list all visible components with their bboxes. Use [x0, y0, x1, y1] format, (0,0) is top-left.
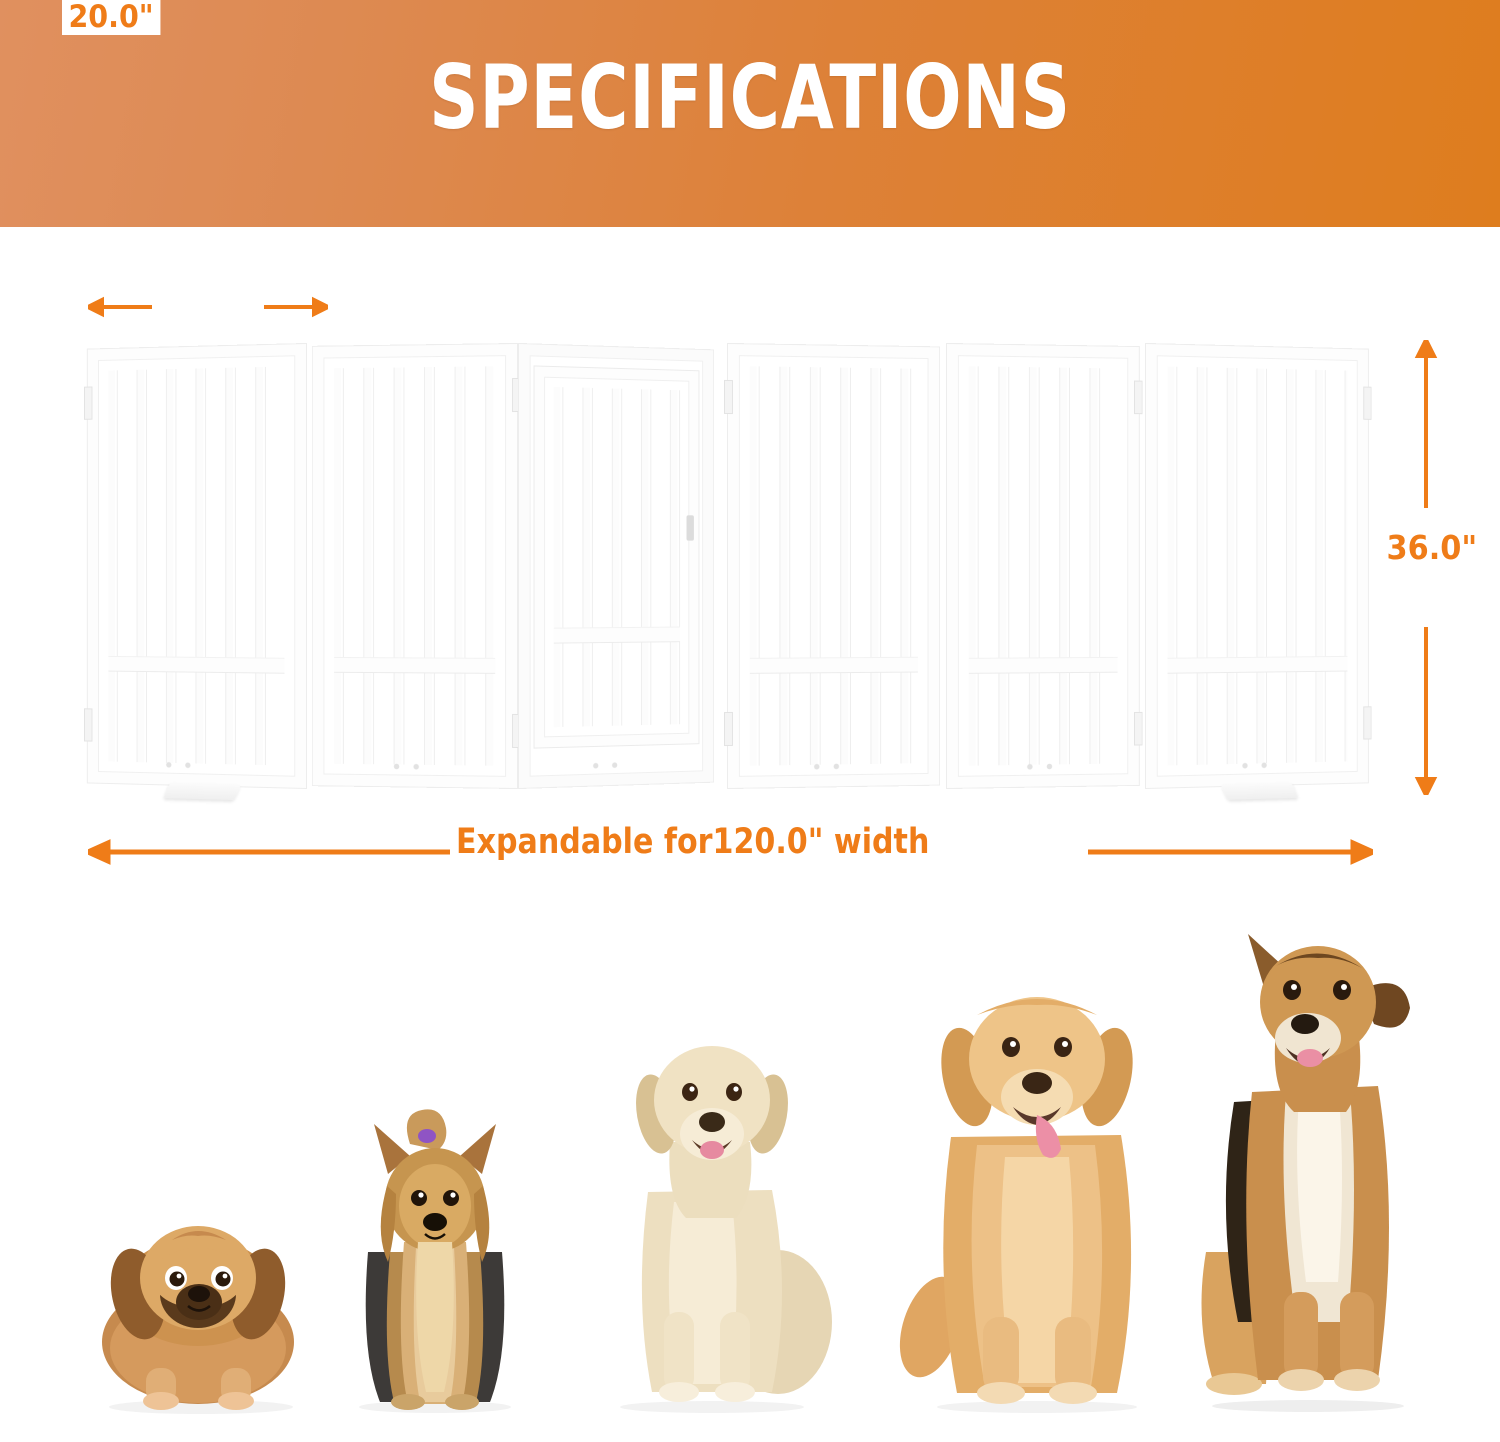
panel-slats [108, 366, 284, 765]
dog-size-comparison-row [0, 920, 1500, 1430]
gate-panel-2 [313, 344, 517, 788]
hinge-icon [84, 386, 92, 419]
gate-panel-3-with-door [519, 344, 713, 788]
hinge-icon [724, 380, 733, 414]
gate-panel-6 [1146, 344, 1368, 788]
panel-width-dimension [88, 282, 328, 332]
gate-height-label: 36.0" [1380, 528, 1484, 567]
double-arrow-vertical-icon [1396, 340, 1456, 795]
panel-slats [334, 366, 495, 765]
panel-rail [108, 657, 284, 673]
dog-cream-labrador [590, 1022, 835, 1412]
panel-rail [750, 658, 918, 673]
hinge-icon [1134, 712, 1143, 746]
gate-panel-1 [88, 344, 306, 788]
gate-foot-support [164, 783, 242, 800]
panel-rail [1168, 657, 1348, 673]
panel-slats [750, 366, 918, 765]
pet-gate-illustration [78, 344, 1378, 788]
panel-rail [969, 658, 1118, 673]
hinge-icon [724, 712, 733, 746]
hinge-icon [1134, 381, 1143, 415]
gate-foot-support [1220, 782, 1298, 799]
dog-pekingese-puppy [76, 1182, 326, 1412]
dog-golden-retriever [905, 967, 1170, 1412]
page-title: SPECIFICATIONS [165, 52, 1335, 144]
door-slats [554, 387, 680, 727]
panel-screws [163, 762, 201, 769]
panel-slats [969, 366, 1118, 765]
panel-screws [1239, 762, 1277, 769]
dog-yorkshire-terrier [330, 1102, 540, 1412]
door-latch[interactable] [687, 515, 694, 540]
door-rail [554, 628, 680, 643]
walk-through-door[interactable] [534, 366, 698, 747]
gate-panel-5 [947, 344, 1139, 788]
panel-screws [1024, 763, 1063, 770]
panel-rail [334, 658, 495, 673]
hinge-icon [84, 708, 92, 741]
panel-screws [391, 763, 430, 769]
total-width-label: Expandable for120.0" width [450, 822, 935, 862]
specifications-header-banner: SPECIFICATIONS [0, 0, 1500, 227]
double-arrow-horizontal-icon [88, 282, 328, 332]
hinge-icon [1363, 387, 1371, 420]
hinge-icon [1363, 706, 1371, 739]
panel-screws [590, 762, 628, 769]
panel-width-label: 20.0" [62, 0, 160, 35]
panel-slats [1168, 366, 1348, 765]
panel-screws [811, 763, 850, 770]
dog-shepherd-mix [1180, 922, 1430, 1412]
gate-panel-4 [728, 344, 939, 788]
gate-height-dimension [1396, 340, 1456, 795]
